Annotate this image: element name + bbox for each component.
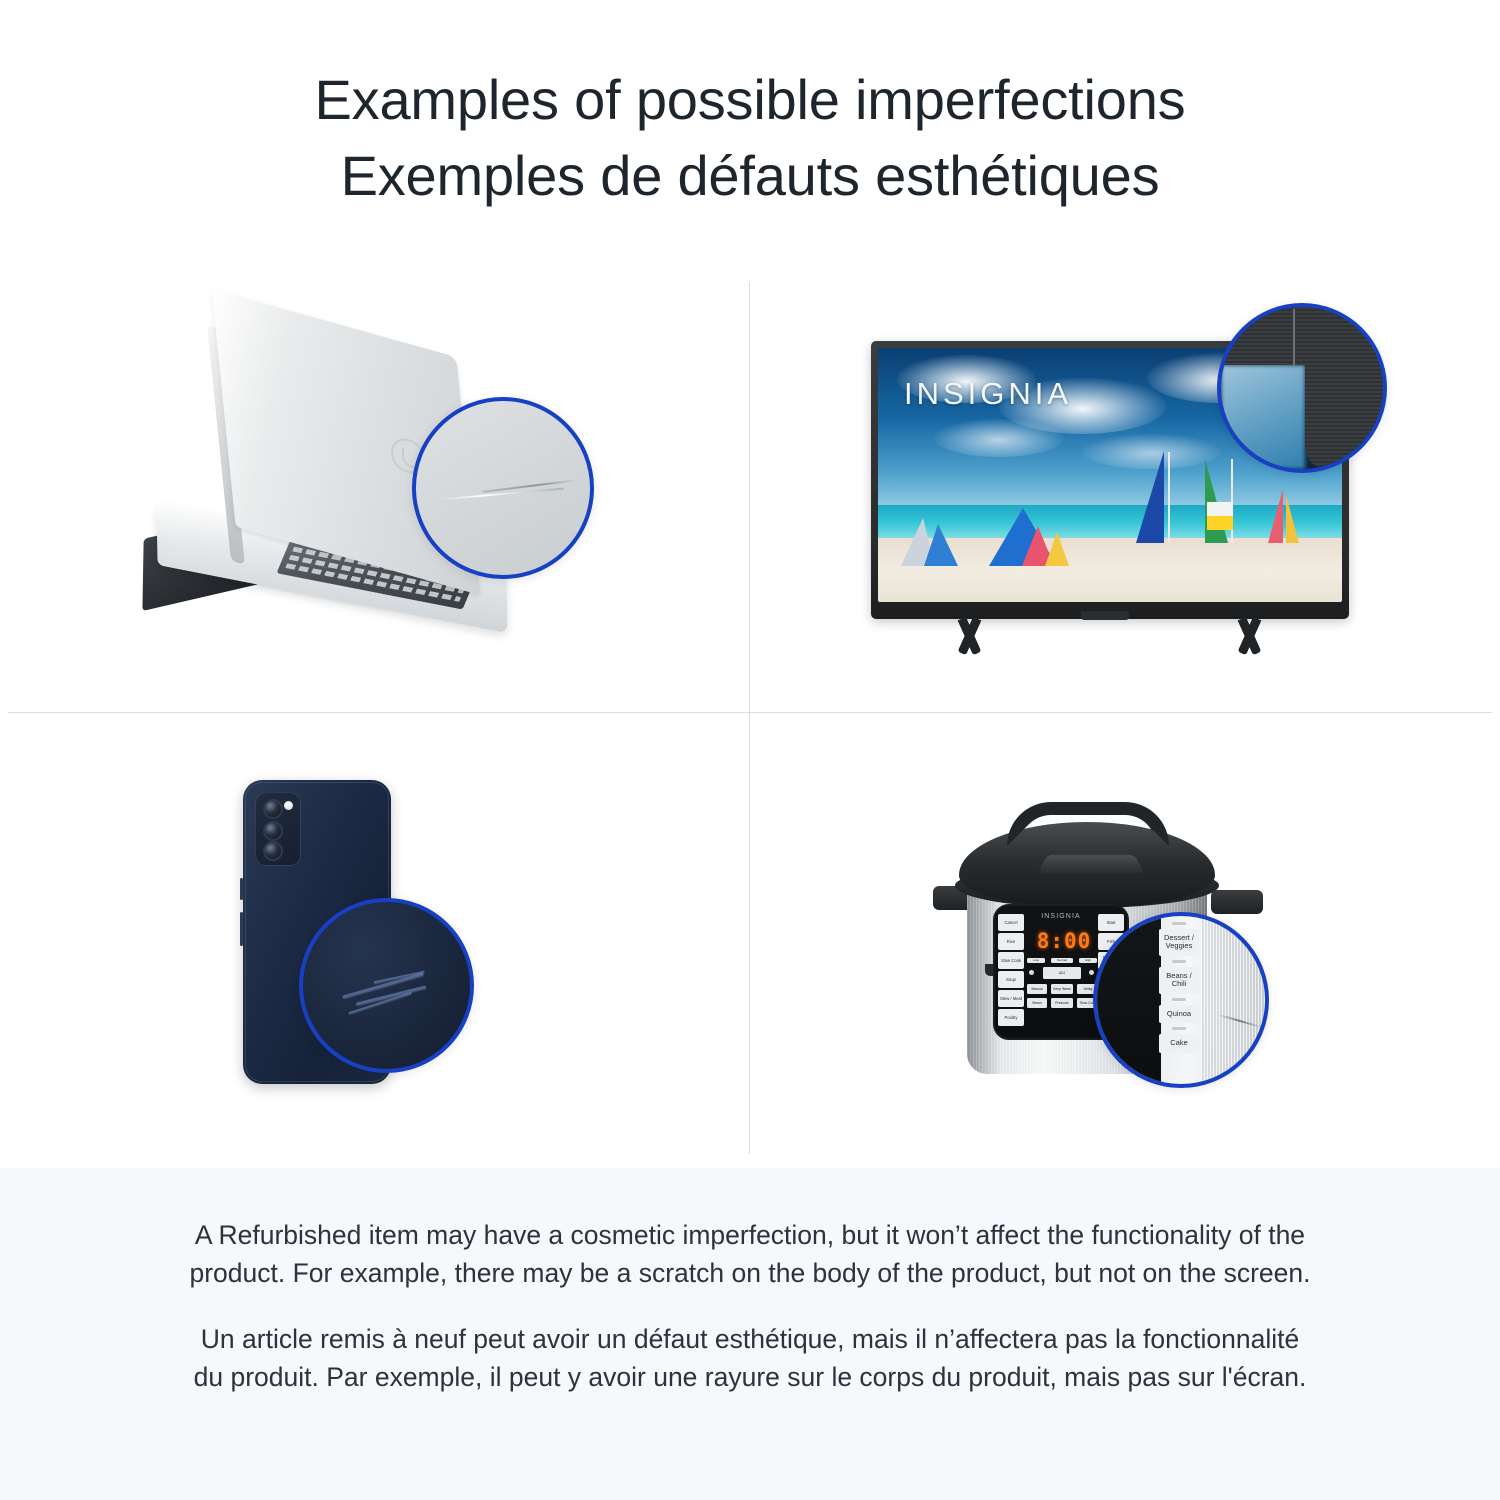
cooker-lid-handle[interactable]: [1007, 802, 1169, 846]
cooker-button[interactable]: Cancel: [998, 914, 1024, 931]
cooker-led-display: 8:00: [1033, 930, 1095, 953]
cooker-lid-vent: [1038, 854, 1145, 872]
magnified-cooker-button[interactable]: Cake: [1159, 1034, 1199, 1053]
magnified-cooker-button[interactable]: Dessert / Veggies: [1159, 929, 1199, 956]
magnifier-phone-scratch: [299, 898, 474, 1073]
tv-leg-left: [927, 617, 1013, 655]
footer-paragraph-fr: Un article remis à neuf peut avoir un dé…: [186, 1320, 1314, 1396]
cooker-button[interactable]: Rice: [998, 933, 1024, 950]
magnifier-laptop-scratch: [412, 397, 594, 579]
cooker-key-adjust[interactable]: ADJ: [1043, 967, 1081, 979]
cooker-key[interactable]: Pressure: [1051, 998, 1073, 1008]
magnified-brushed-steel: [1201, 916, 1265, 1084]
pressure-label: High: [1079, 958, 1097, 963]
refurbished-imperfections-infographic: Examples of possible imperfections Exemp…: [0, 0, 1500, 1500]
cooker-handle-right: [1211, 890, 1263, 914]
magnified-bezel-side: [1305, 307, 1383, 469]
phone-volume-button: [240, 878, 243, 900]
panel-smartphone: [0, 713, 750, 1168]
tv-stand: [871, 617, 1349, 657]
cooker-key[interactable]: Manual: [1027, 984, 1047, 994]
page-footer: A Refurbished item may have a cosmetic i…: [0, 1168, 1500, 1500]
cooker-left-button-column[interactable]: Cancel Rice Slow Cook Soup Stew / Meat P…: [998, 914, 1024, 1026]
scratch-mark: [1293, 309, 1295, 365]
footer-paragraph-en: A Refurbished item may have a cosmetic i…: [186, 1216, 1314, 1292]
cooker-button[interactable]: Poultry: [998, 1009, 1024, 1026]
phone-illustration: [165, 766, 585, 1116]
magnified-cooker-button[interactable]: Quinoa: [1159, 1005, 1199, 1024]
page-header: Examples of possible imperfections Exemp…: [0, 0, 1500, 258]
page-title-fr: Exemples de défauts esthétiques: [341, 138, 1160, 214]
pressure-label: Low: [1027, 958, 1045, 963]
laptop-illustration: [115, 321, 635, 651]
cooker-button[interactable]: Stew / Meat: [998, 990, 1024, 1007]
magnifier-cooker-scratch: Dessert / Veggies Beans / Chili Quinoa C…: [1093, 912, 1269, 1088]
tv-leg-right: [1207, 617, 1293, 655]
cooker-illustration: INSIGNIA 8:00 Cancel Rice Slow Cook Soup…: [915, 766, 1335, 1116]
product-examples-grid: INSIGNIA: [0, 258, 1500, 1168]
cooker-center-keypad[interactable]: Low Normal High ADJ Manual Keep Warm Del…: [1027, 958, 1099, 1032]
magnified-panel-dark: [1097, 916, 1161, 1084]
camera-module-icon: [255, 792, 301, 866]
camera-flash-icon: [284, 801, 293, 810]
phone-power-button: [240, 912, 243, 946]
panel-laptop: [0, 258, 750, 713]
magnified-button-column: Dessert / Veggies Beans / Chili Quinoa C…: [1159, 922, 1199, 1053]
tv-illustration: INSIGNIA: [865, 311, 1385, 661]
magnified-screen-area: [1221, 365, 1305, 469]
cooker-button[interactable]: Soup: [998, 971, 1024, 988]
pressure-label: Normal: [1051, 958, 1073, 963]
cooker-button[interactable]: Slow Cook: [998, 952, 1024, 969]
panel-television: INSIGNIA: [750, 258, 1500, 713]
panel-pressure-cooker: INSIGNIA 8:00 Cancel Rice Slow Cook Soup…: [750, 713, 1500, 1168]
cooker-key[interactable]: Steam: [1027, 998, 1047, 1008]
scratch-mark: [342, 972, 424, 998]
page-title-en: Examples of possible imperfections: [315, 62, 1186, 138]
tv-brand-logo: INSIGNIA: [904, 376, 1072, 412]
magnifier-tv-scratch: [1217, 303, 1387, 473]
magnified-cooker-button[interactable]: Beans / Chili: [1159, 967, 1199, 994]
cooker-key[interactable]: Keep Warm: [1051, 984, 1073, 994]
